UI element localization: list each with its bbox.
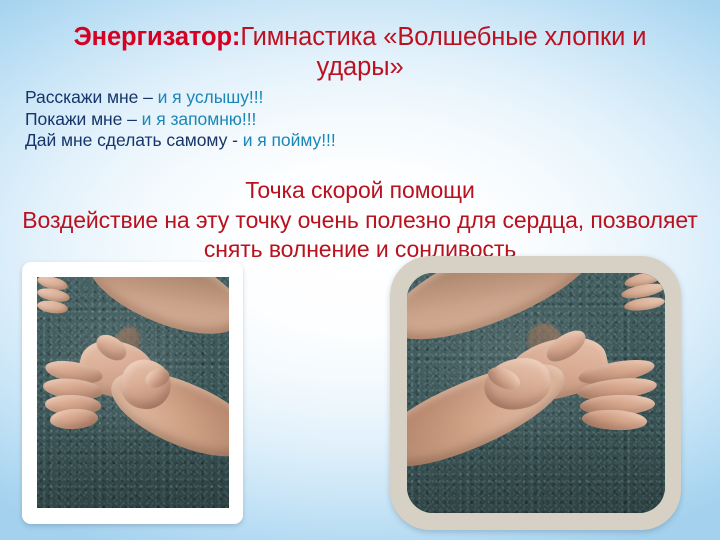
acupressure-photo-left-frame [22,262,243,524]
acupressure-photo-right [407,273,665,513]
acupressure-photo-left [37,277,229,508]
slide-canvas: Энергизатор:Гимнастика «Волшебные хлопки… [0,0,720,540]
photo-shading-overlay [407,273,665,513]
photo-shading-overlay [37,277,229,508]
acupressure-photo-right-frame [390,256,681,530]
photo-layer [0,0,720,540]
